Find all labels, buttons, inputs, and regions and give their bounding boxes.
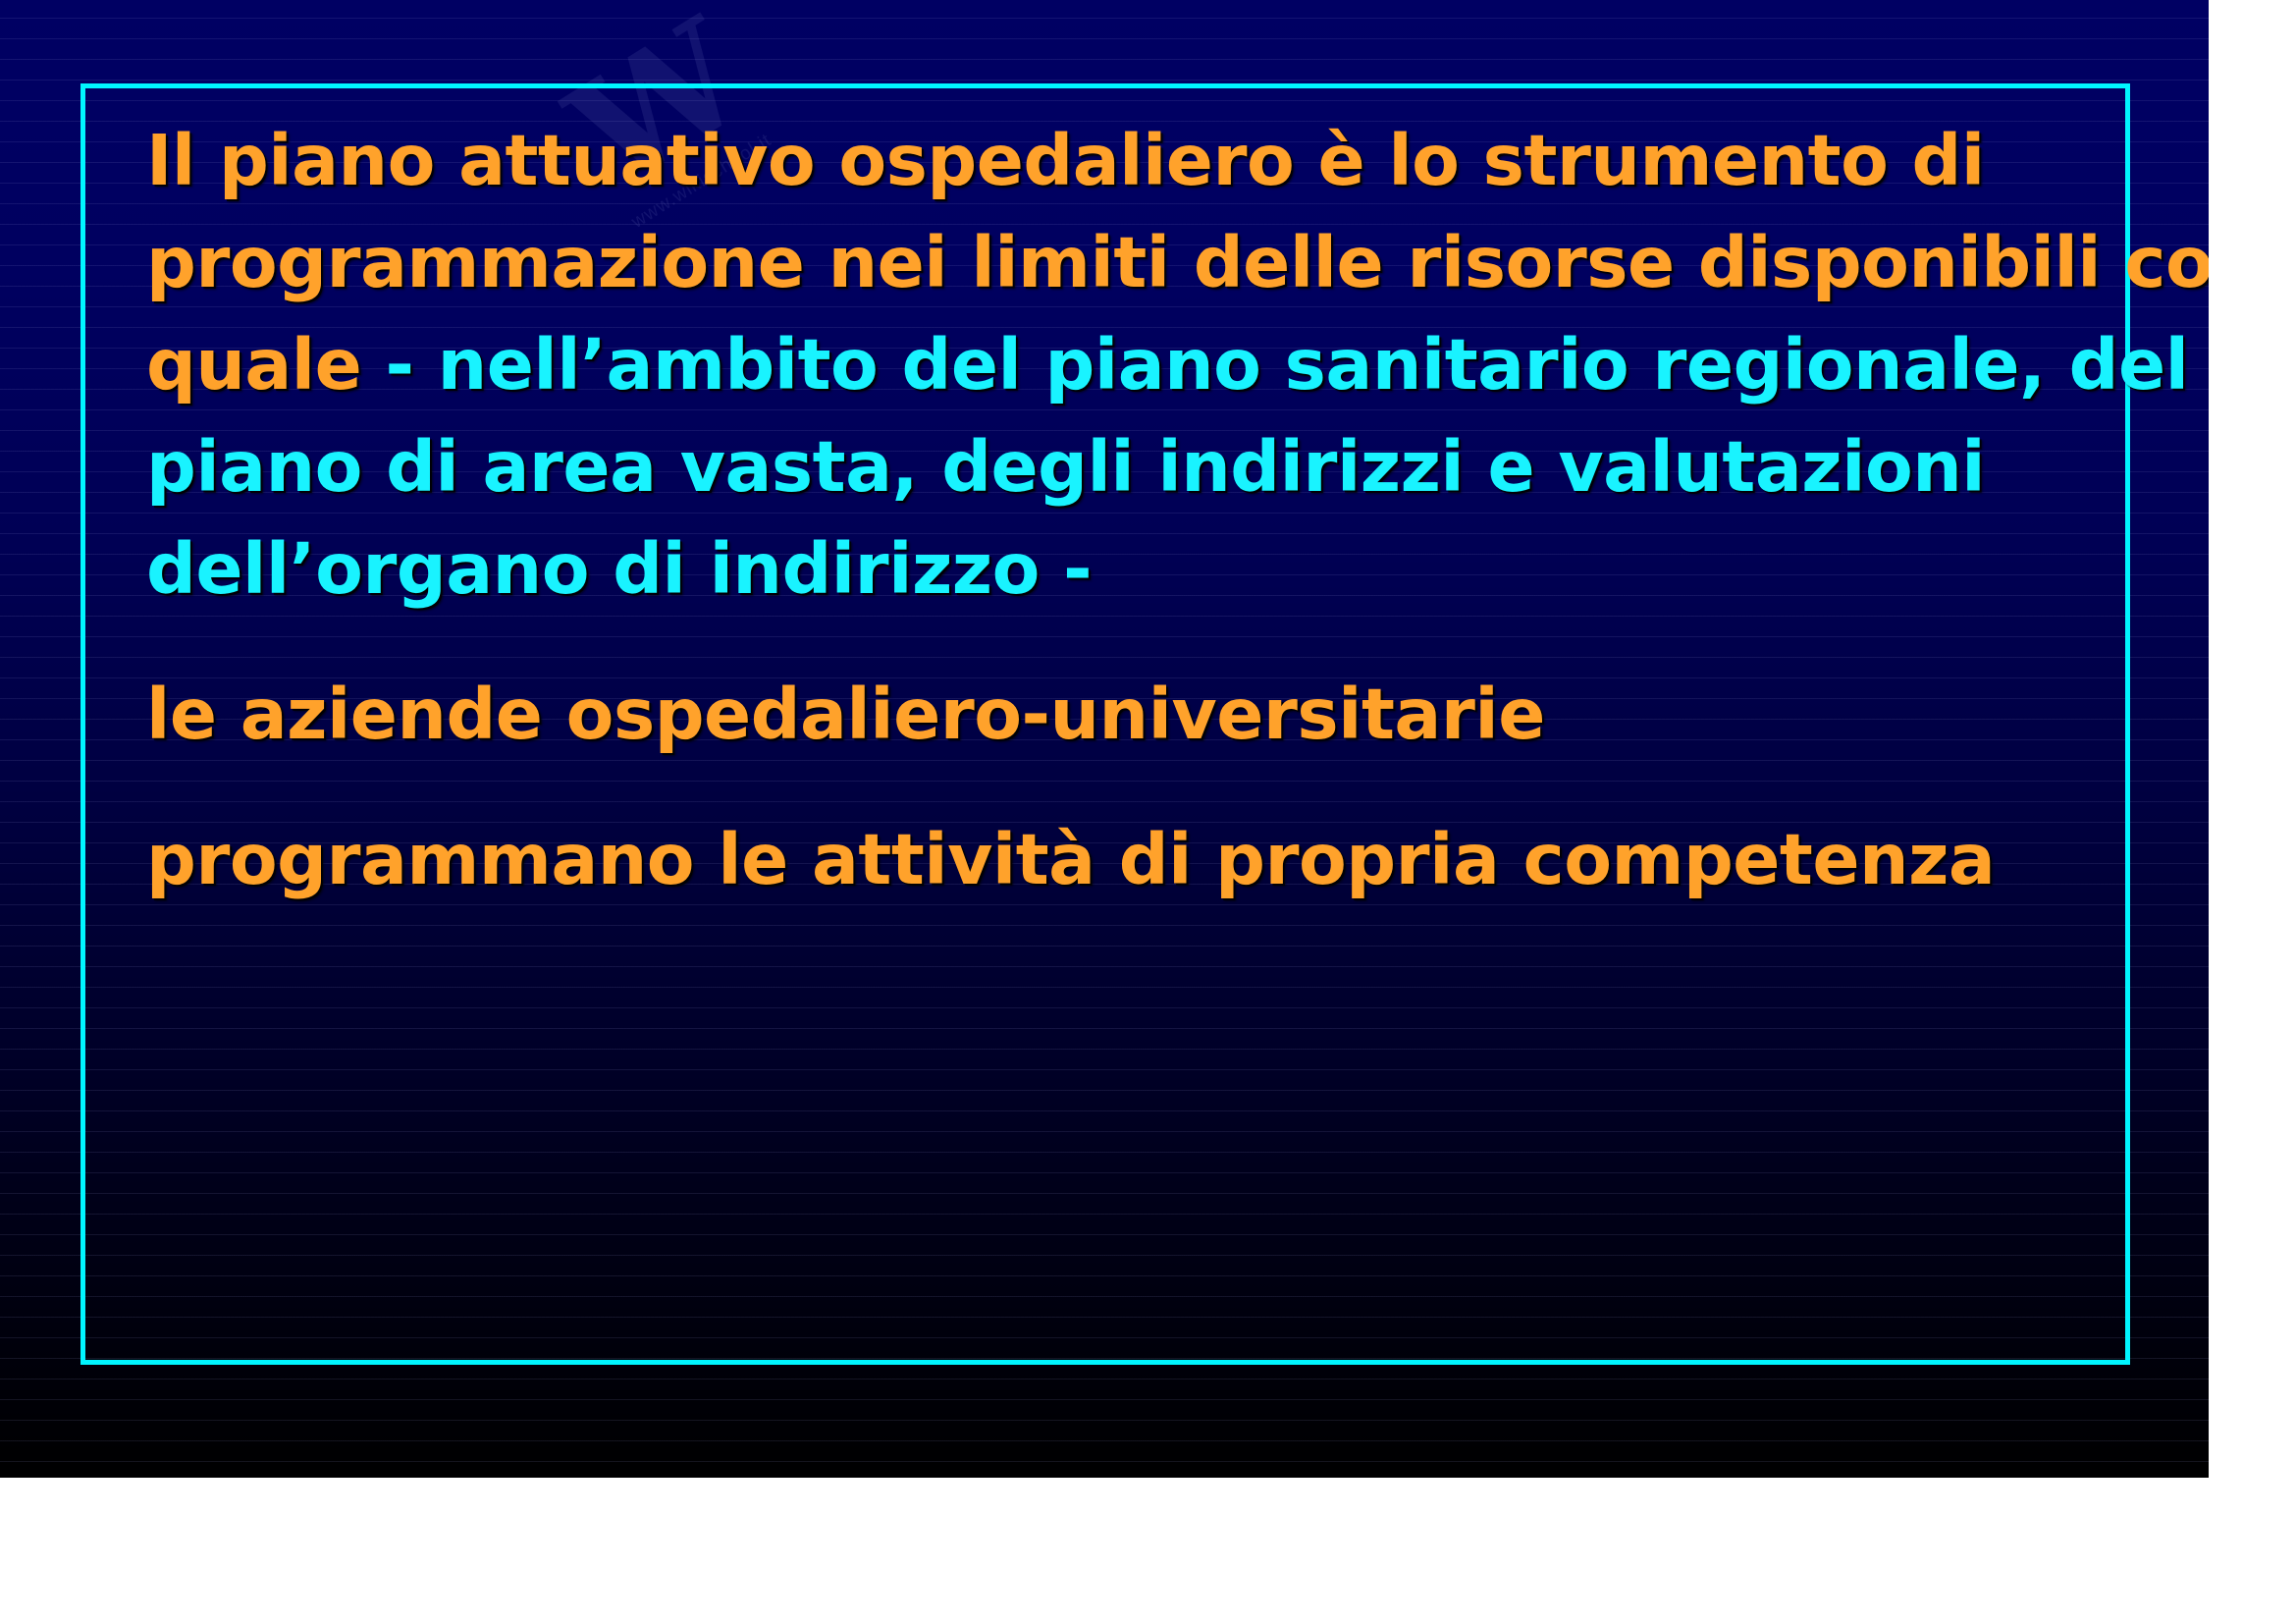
text-segment-orange: quale: [146, 324, 386, 406]
content-frame: Il piano attuativo ospedaliero è lo stru…: [80, 83, 2130, 1365]
text-segment-orange: Il piano attuativo ospedaliero è lo stru…: [146, 120, 1985, 201]
slide-body-text: Il piano attuativo ospedaliero è lo stru…: [146, 110, 2109, 911]
text-line: quale - nell’ambito del piano sanitario …: [146, 314, 2109, 416]
presentation-slide: W www.wikischool.it Il piano attuativo o…: [0, 0, 2209, 1478]
text-segment-cyan: dell’organo di indirizzo -: [146, 528, 1092, 610]
text-line: programmano le attività di propria compe…: [146, 809, 2109, 911]
text-segment-orange: programmazione nei limiti delle risorse …: [146, 222, 2209, 303]
text-line: dell’organo di indirizzo -: [146, 518, 2109, 621]
text-line: piano di area vasta, degli indirizzi e v…: [146, 416, 2109, 518]
text-line: Il piano attuativo ospedaliero è lo stru…: [146, 110, 2109, 212]
text-segment-orange: programmano le attività di propria compe…: [146, 819, 1995, 900]
text-segment-orange: le aziende ospedaliero-universitarie: [146, 674, 1545, 755]
text-segment-cyan: piano di area vasta, degli indirizzi e v…: [146, 426, 1985, 508]
text-segment-cyan: - nell’ambito del piano sanitario region…: [386, 324, 2189, 406]
text-line: programmazione nei limiti delle risorse …: [146, 212, 2109, 314]
text-line: le aziende ospedaliero-universitarie: [146, 664, 2109, 766]
